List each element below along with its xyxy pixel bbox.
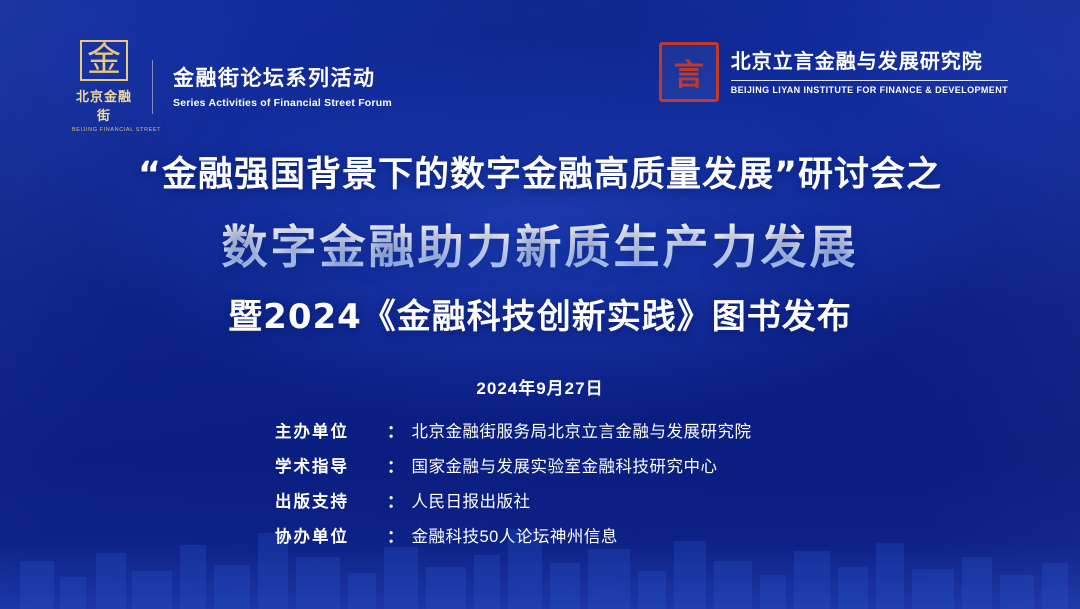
organizer-colon: ：	[387, 418, 404, 442]
organizer-value-1: 北京金融街服务局	[412, 418, 548, 442]
beijing-financial-street-mark: 金 北京金融街 BEIJING FINANCIAL STREET	[72, 40, 136, 133]
institute-title-block: 北京立言金融与发展研究院 BEIJING LIYAN INSTITUTE FOR…	[731, 49, 1008, 95]
forum-title-en: Series Activities of Financial Street Fo…	[173, 97, 392, 109]
organizer-row: 协办单位 ： 金融科技50人论坛 神州信息	[275, 523, 805, 547]
organizer-row: 主办单位 ： 北京金融街服务局 北京立言金融与发展研究院	[275, 418, 805, 442]
organizer-label: 出版支持	[275, 488, 387, 512]
poster-titles: “金融强国背景下的数字金融高质量发展”研讨会之 数字金融助力新质生产力发展 暨2…	[0, 146, 1080, 399]
organizer-colon: ：	[387, 523, 404, 547]
event-poster: 金 北京金融街 BEIJING FINANCIAL STREET 金融街论坛系列…	[0, 0, 1080, 609]
organizer-colon: ：	[387, 453, 404, 477]
organizer-value-2: 北京立言金融与发展研究院	[548, 418, 752, 442]
institute-title-cn: 北京立言金融与发展研究院	[731, 49, 1008, 75]
title-line-2-main: 数字金融助力新质生产力发展	[0, 211, 1080, 277]
logo-divider	[152, 60, 153, 114]
forum-title-block: 金融街论坛系列活动 Series Activities of Financial…	[173, 65, 392, 109]
bjfs-mark-cn: 北京金融街	[72, 86, 136, 124]
gate-icon: 金	[80, 40, 128, 81]
organizer-label: 学术指导	[275, 453, 387, 477]
organizer-row: 出版支持 ： 人民日报出版社	[275, 488, 805, 512]
seal-icon: 言	[659, 42, 719, 102]
organizer-row: 学术指导 ： 国家金融与发展实验室金融科技研究中心	[275, 453, 805, 477]
forum-title-cn: 金融街论坛系列活动	[173, 65, 392, 93]
liyan-institute-logo: 言 北京立言金融与发展研究院 BEIJING LIYAN INSTITUTE F…	[659, 42, 1008, 102]
organizer-list: 主办单位 ： 北京金融街服务局 北京立言金融与发展研究院 学术指导 ： 国家金融…	[0, 418, 1080, 547]
organizer-value-1: 人民日报出版社	[412, 488, 531, 512]
title-line-3: 暨2024《金融科技创新实践》图书发布	[0, 289, 1080, 338]
financial-street-forum-logo: 金 北京金融街 BEIJING FINANCIAL STREET 金融街论坛系列…	[72, 40, 392, 133]
bjfs-mark-en: BEIJING FINANCIAL STREET	[72, 127, 136, 133]
event-date: 2024年9月27日	[0, 374, 1080, 399]
organizer-value-2: 神州信息	[550, 523, 618, 547]
organizer-colon: ：	[387, 488, 404, 512]
institute-title-en: BEIJING LIYAN INSTITUTE FOR FINANCE & DE…	[731, 80, 1008, 95]
poster-header: 金 北京金融街 BEIJING FINANCIAL STREET 金融街论坛系列…	[0, 40, 1080, 120]
organizer-value-1: 国家金融与发展实验室金融科技研究中心	[412, 453, 718, 477]
organizer-label: 协办单位	[275, 523, 387, 547]
organizer-label: 主办单位	[275, 418, 387, 442]
organizer-value-1: 金融科技50人论坛	[412, 523, 550, 547]
title-line-1: “金融强国背景下的数字金融高质量发展”研讨会之	[0, 146, 1080, 197]
